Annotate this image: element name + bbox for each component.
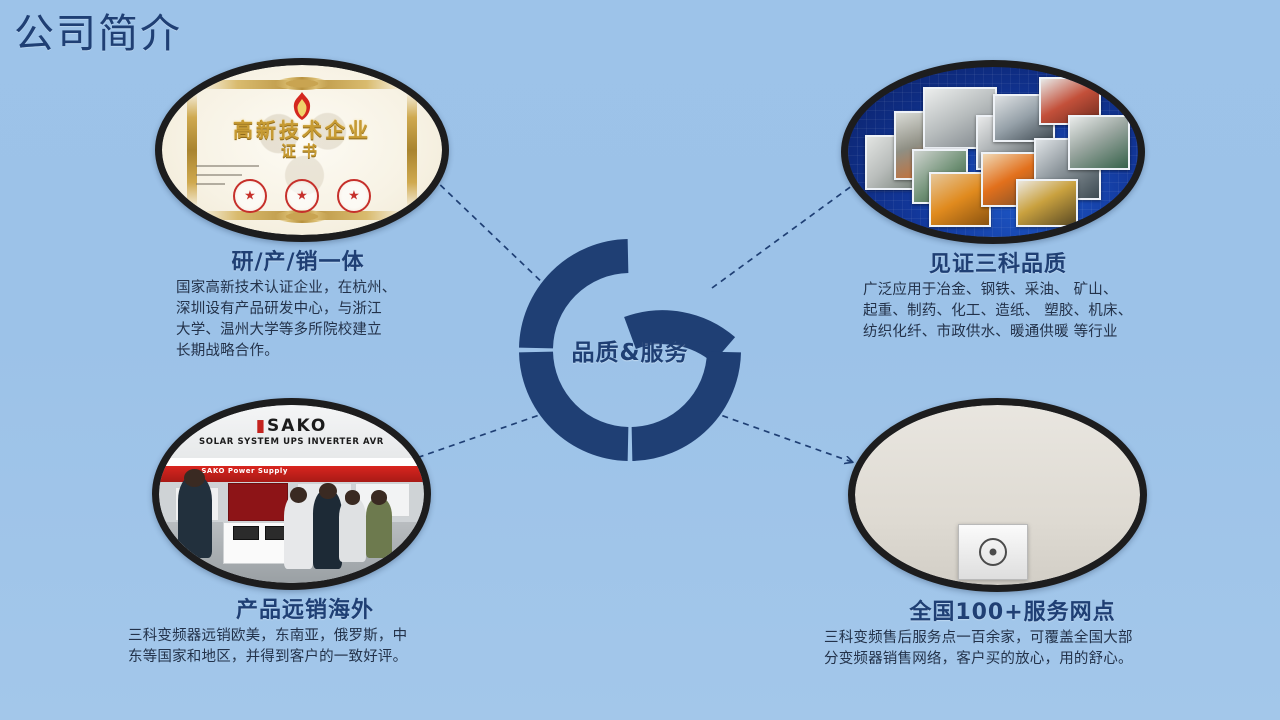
booth-brand: ▮SAKO [159, 416, 424, 436]
node-bottom-left: ▮SAKO SOLAR SYSTEM UPS INVERTER AVR SAKO… [140, 398, 470, 668]
red-seal-icon [285, 179, 319, 213]
node-bottom-right: 全国100+服务网点 三科变频售后服务点一百余家，可覆盖全国大部 分变频器销售网… [840, 398, 1185, 670]
node-title-bottom-left: 产品远销海外 [140, 596, 470, 626]
hub-segment-bottom-left [536, 352, 628, 444]
node-title-bottom-right: 全国100+服务网点 [840, 598, 1185, 628]
node-top-right: 见证三科品质 广泛应用于冶金、钢铁、采油、 矿山、 起重、制药、化工、造纸、 塑… [833, 60, 1163, 343]
node-body-top-left: 国家高新技术认证企业，在杭州、 深圳设有产品研发中心，与浙江 大学、温州大学等多… [176, 278, 453, 362]
booth-sub-brand: SAKO Power Supply [201, 467, 288, 475]
technicians-image [848, 398, 1147, 592]
red-seal-icon [337, 179, 371, 213]
hub-segment-top-left [536, 256, 628, 348]
hub-donut: 品质&服务 [519, 239, 741, 461]
hub-segment-bottom-right [632, 352, 724, 444]
booth-tagline: SOLAR SYSTEM UPS INVERTER AVR [159, 437, 424, 447]
hub-segment-top-right [630, 327, 724, 350]
trade-show-image: ▮SAKO SOLAR SYSTEM UPS INVERTER AVR SAKO… [152, 398, 431, 590]
slide-canvas: 公司简介 品质&服务 [0, 0, 1280, 720]
inverter-device [958, 524, 1028, 580]
node-body-bottom-left: 三科变频器远销欧美，东南亚，俄罗斯，中 东等国家和地区，并得到客户的一致好评。 [128, 626, 470, 668]
industrial-collage-image [841, 60, 1145, 244]
red-seal-icon [233, 179, 267, 213]
certificate-stamps [162, 179, 442, 213]
node-title-top-left: 研/产/销一体 [143, 248, 453, 278]
node-top-left: 高新技术企业 证书 研/产/销一体 国家高新技术认证企业，在杭州 [143, 58, 453, 362]
node-body-top-right: 广泛应用于冶金、钢铁、采油、 矿山、 起重、制药、化工、造纸、 塑胶、机床、 纺… [863, 280, 1163, 343]
node-title-top-right: 见证三科品质 [833, 250, 1163, 280]
certificate-image: 高新技术企业 证书 [155, 58, 449, 242]
node-body-bottom-right: 三科变频售后服务点一百余家，可覆盖全国大部 分变频器销售网络，客户买的放心，用的… [824, 628, 1185, 670]
certificate-sub-text: 证书 [162, 140, 442, 161]
